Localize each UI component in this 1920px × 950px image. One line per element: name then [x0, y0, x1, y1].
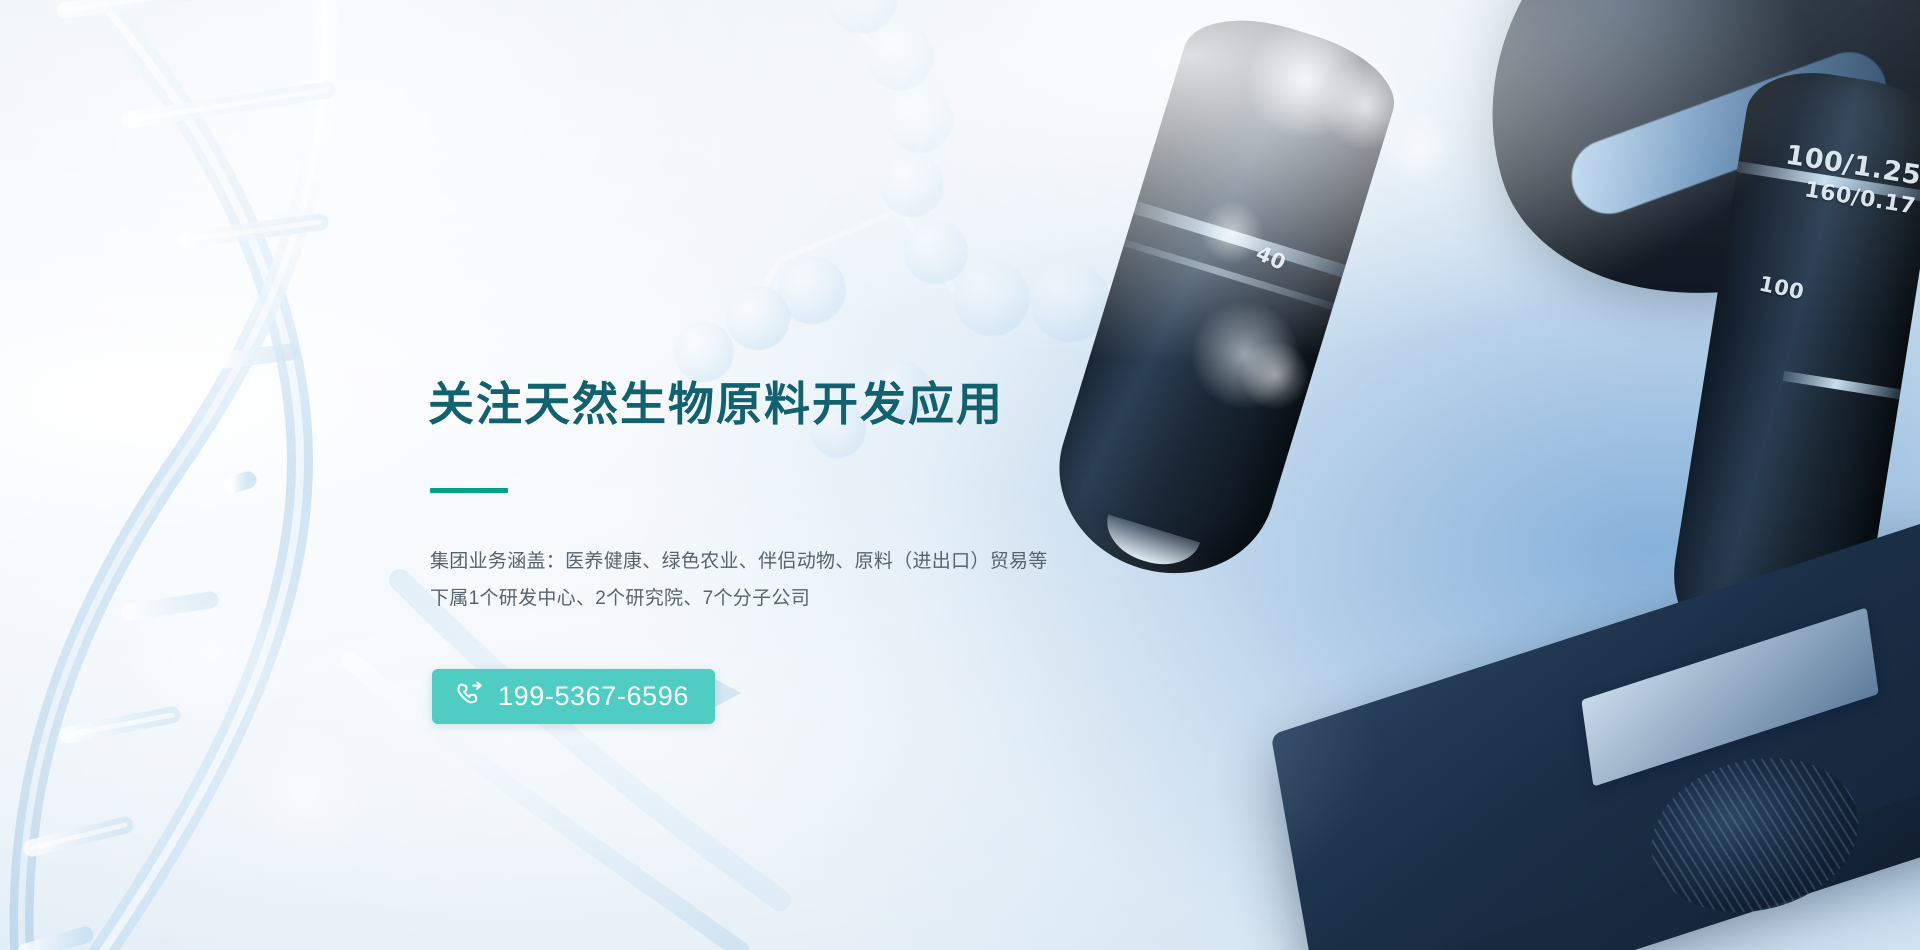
- phone-number-label: 199-5367-6596: [498, 681, 689, 712]
- hero-description-line-2: 下属1个研发中心、2个研究院、7个分子公司: [430, 580, 1170, 617]
- cta-container: 199-5367-6596: [432, 669, 715, 724]
- title-divider: [430, 488, 508, 493]
- hero-description: 集团业务涵盖：医养健康、绿色农业、伴侣动物、原料（进出口）贸易等 下属1个研发中…: [430, 543, 1170, 617]
- hero-banner: 100/1.25 160/0.17 40 100 关注天然生物原料开发应用 集团…: [0, 0, 1920, 950]
- page-title: 关注天然生物原料开发应用: [428, 380, 1248, 430]
- hero-content: 关注天然生物原料开发应用 集团业务涵盖：医养健康、绿色农业、伴侣动物、原料（进出…: [428, 380, 1248, 724]
- hero-description-line-1: 集团业务涵盖：医养健康、绿色农业、伴侣动物、原料（进出口）贸易等: [430, 543, 1170, 580]
- phone-forward-icon: [454, 681, 484, 711]
- phone-call-button[interactable]: 199-5367-6596: [432, 669, 715, 724]
- cta-decorative-tail: [715, 679, 741, 707]
